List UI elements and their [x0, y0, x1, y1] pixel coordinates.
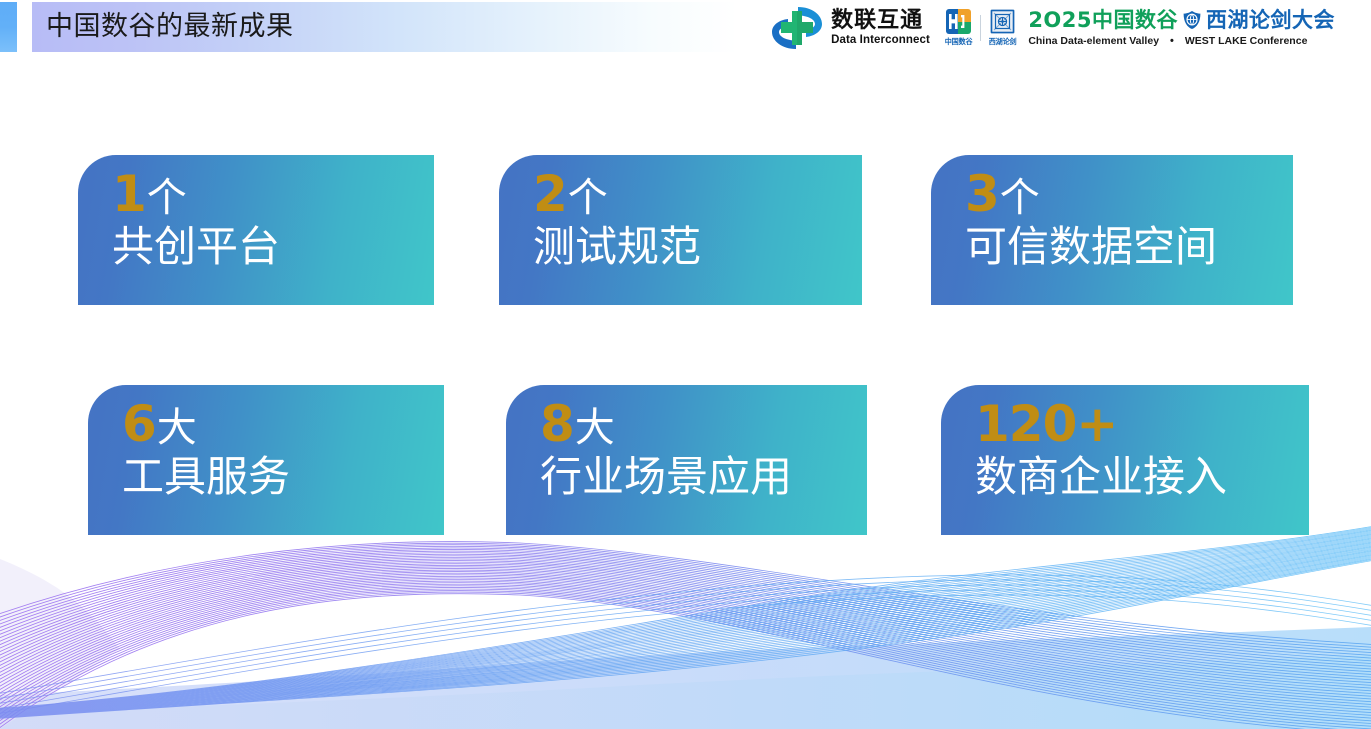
- stat-card-headline: 1个: [112, 169, 434, 219]
- stat-card-headline: 2个: [533, 169, 862, 219]
- stat-card-number: 6: [122, 399, 156, 449]
- stat-card-unit: 个: [568, 178, 608, 218]
- stat-card-label: 行业场景应用: [540, 455, 867, 499]
- stat-card-label: 工具服务: [122, 455, 444, 499]
- stat-card-number: 120+: [975, 399, 1117, 449]
- stat-card-unit: 大: [575, 408, 615, 448]
- stat-card: 2个测试规范: [499, 155, 862, 305]
- stat-card-label: 共创平台: [112, 225, 434, 269]
- stat-card-number: 3: [965, 169, 999, 219]
- stat-card-headline: 8大: [540, 399, 867, 449]
- stat-card-number: 8: [540, 399, 574, 449]
- stat-card-unit: 个: [147, 178, 187, 218]
- stat-card-label: 数商企业接入: [975, 455, 1309, 499]
- stat-card: 6大工具服务: [88, 385, 444, 535]
- stat-card-unit: 大: [157, 408, 197, 448]
- stat-card-headline: 120+: [975, 399, 1309, 449]
- stat-card: 3个可信数据空间: [931, 155, 1293, 305]
- stat-card-unit: 个: [1000, 178, 1040, 218]
- stat-card: 8大行业场景应用: [506, 385, 867, 535]
- stat-card: 1个共创平台: [78, 155, 434, 305]
- stat-card-headline: 6大: [122, 399, 444, 449]
- stat-card: 120+数商企业接入: [941, 385, 1309, 535]
- stat-card-grid: 1个共创平台2个测试规范3个可信数据空间6大工具服务8大行业场景应用120+数商…: [0, 0, 1371, 729]
- stat-card-number: 1: [112, 169, 146, 219]
- stat-card-number: 2: [533, 169, 567, 219]
- stat-card-label: 测试规范: [533, 225, 862, 269]
- stat-card-label: 可信数据空间: [965, 225, 1293, 269]
- slide-root: 中国数谷的最新成果 数联互通 Data Interconnect: [0, 0, 1371, 729]
- stat-card-headline: 3个: [965, 169, 1293, 219]
